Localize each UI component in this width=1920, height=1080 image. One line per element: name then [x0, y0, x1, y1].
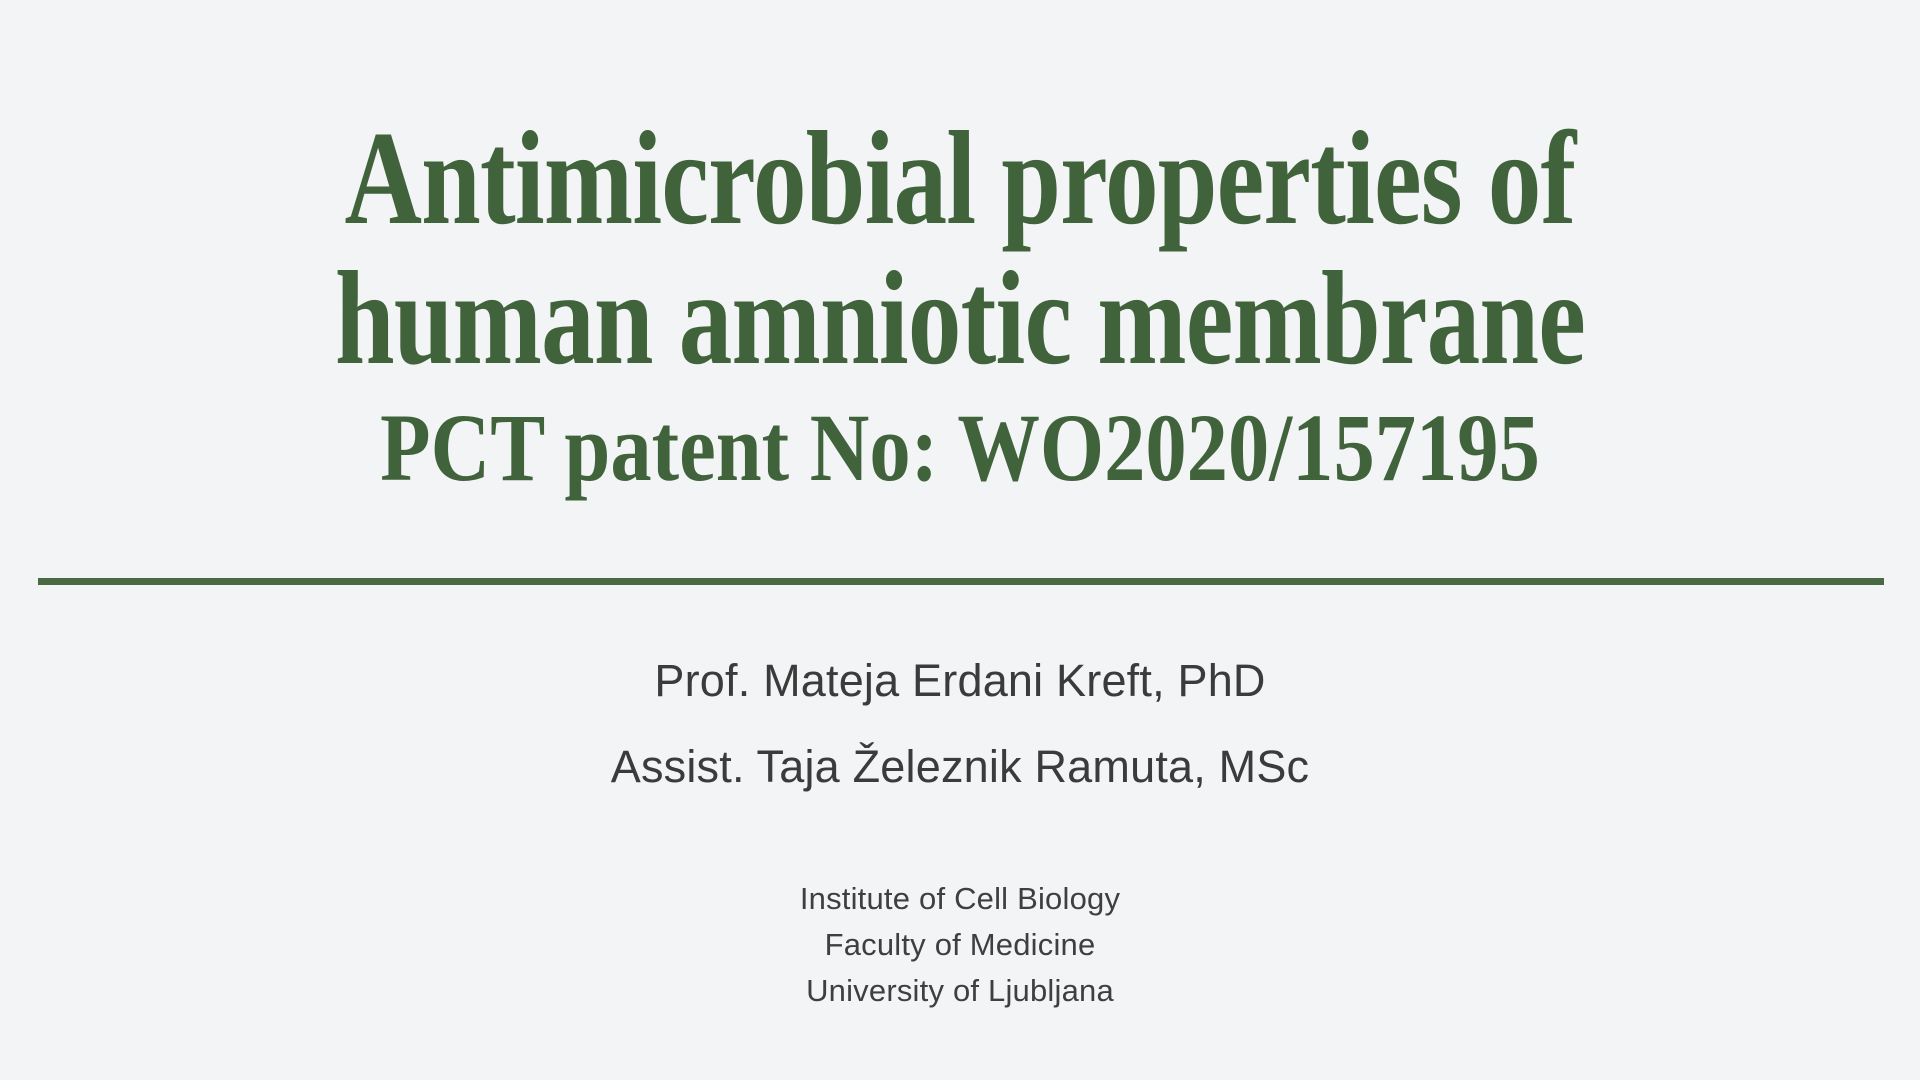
- slide-title-line-1: Antimicrobial properties of: [192, 108, 1728, 248]
- affiliation-faculty: Faculty of Medicine: [0, 922, 1920, 968]
- affiliation-block: Institute of Cell Biology Faculty of Med…: [0, 876, 1920, 1014]
- presenter-list: Prof. Mateja Erdani Kreft, PhD Assist. T…: [0, 638, 1920, 810]
- presenter-name-primary: Prof. Mateja Erdani Kreft, PhD: [0, 638, 1920, 724]
- affiliation-institute: Institute of Cell Biology: [0, 876, 1920, 922]
- slide-title-line-2: human amniotic membrane: [192, 248, 1728, 388]
- title-divider-rule: [38, 578, 1884, 585]
- affiliation-university: University of Ljubljana: [0, 968, 1920, 1014]
- presentation-title-slide: Antimicrobial properties of human amniot…: [0, 0, 1920, 1080]
- slide-subtitle-patent-number: PCT patent No: WO2020/157195: [134, 394, 1785, 502]
- presenter-name-secondary: Assist. Taja Železnik Ramuta, MSc: [0, 724, 1920, 810]
- title-block: Antimicrobial properties of human amniot…: [0, 108, 1920, 502]
